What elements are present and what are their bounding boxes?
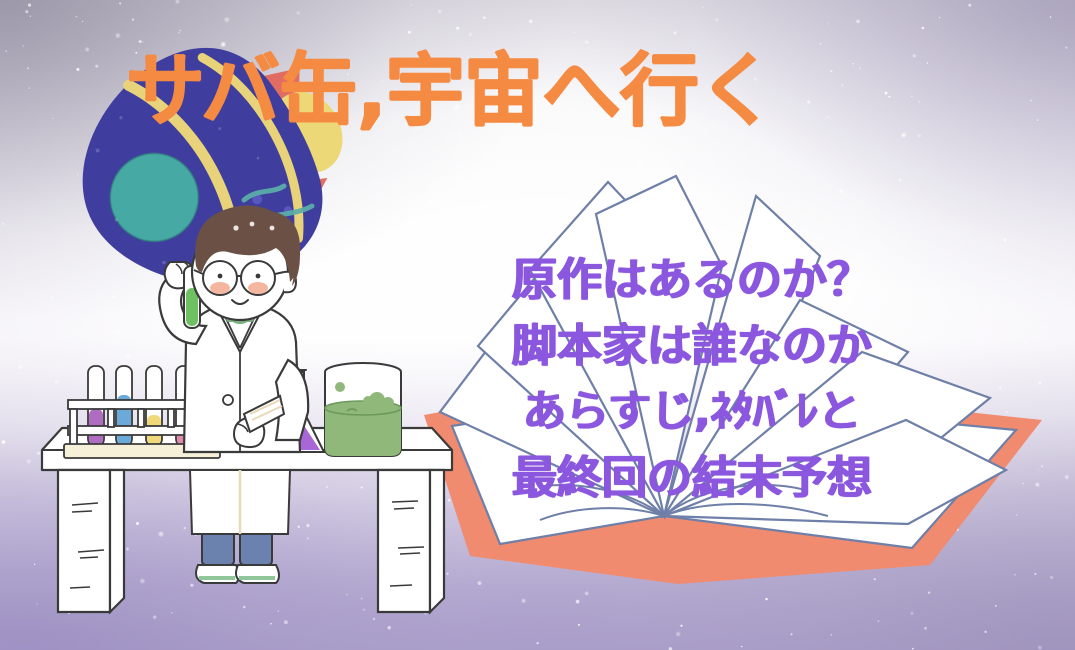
subtitle-line-2: 脚本家は誰なのか [432,313,952,379]
subtitle-line-3: あらすじ,ﾈﾀﾊﾞﾚと [432,379,952,445]
subtitle-text-block: 原作はあるのか？ 脚本家は誰なのか あらすじ,ﾈﾀﾊﾞﾚと 最終回の結末予想 [432,247,952,511]
subtitle-line-1: 原作はあるのか？ [432,247,952,313]
beaker-with-liquid [325,363,401,456]
subtitle-line-4: 最終回の結末予想 [432,445,952,511]
page-title: サバ缶,宇宙へ行く [126,52,776,131]
thumbnail-canvas: サバ缶,宇宙へ行く 原作はあるのか？ 脚本家は誰なのか あらすじ,ﾈﾀﾊﾞﾚと … [0,0,1075,650]
